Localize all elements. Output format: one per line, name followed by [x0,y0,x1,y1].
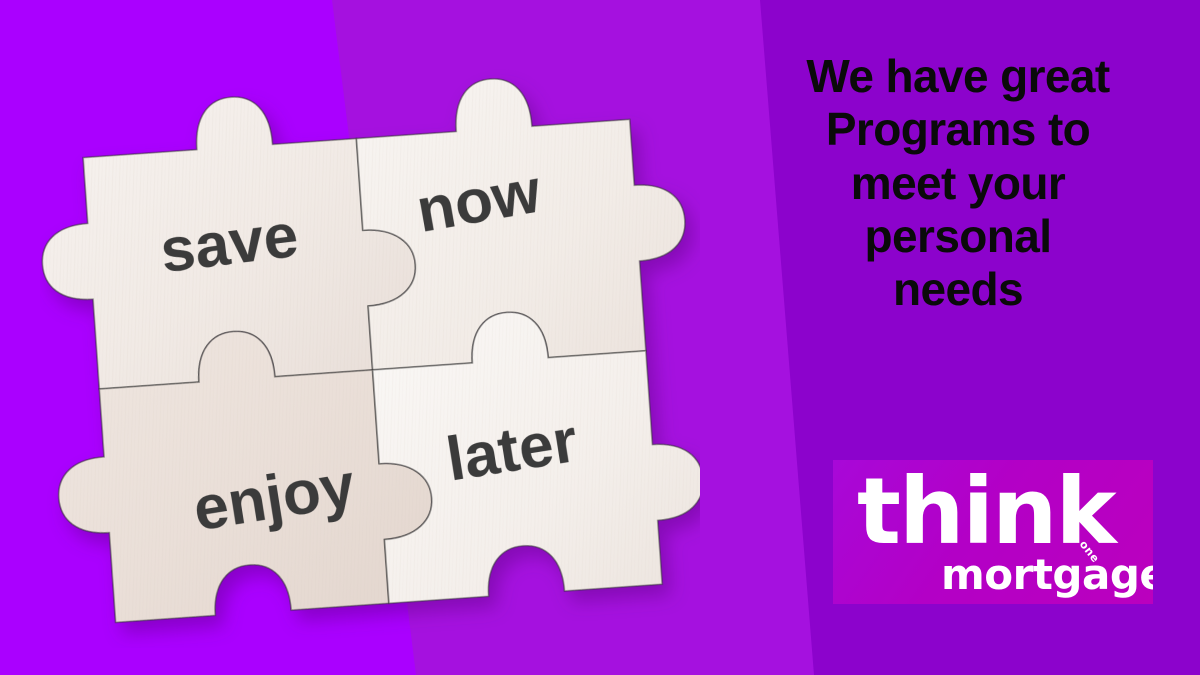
headline-line-2: Programs to [748,103,1168,156]
puzzle-image: save now enjoy later [40,18,700,648]
headline-line-1: We have great [748,50,1168,103]
headline-line-4: personal [748,210,1168,263]
logo-brand-text: think [857,466,1115,558]
brand-logo[interactable]: think one mortgage [833,460,1153,604]
headline: We have great Programs to meet your pers… [748,50,1168,317]
slide-canvas: save now enjoy later We have great Progr… [0,0,1200,675]
logo-product-text: mortgage [941,554,1153,596]
logo-inner: think one mortgage [833,460,1153,604]
headline-line-5: needs [748,263,1168,316]
headline-line-3: meet your [748,157,1168,210]
puzzle-graphic: save now enjoy later [40,18,700,648]
